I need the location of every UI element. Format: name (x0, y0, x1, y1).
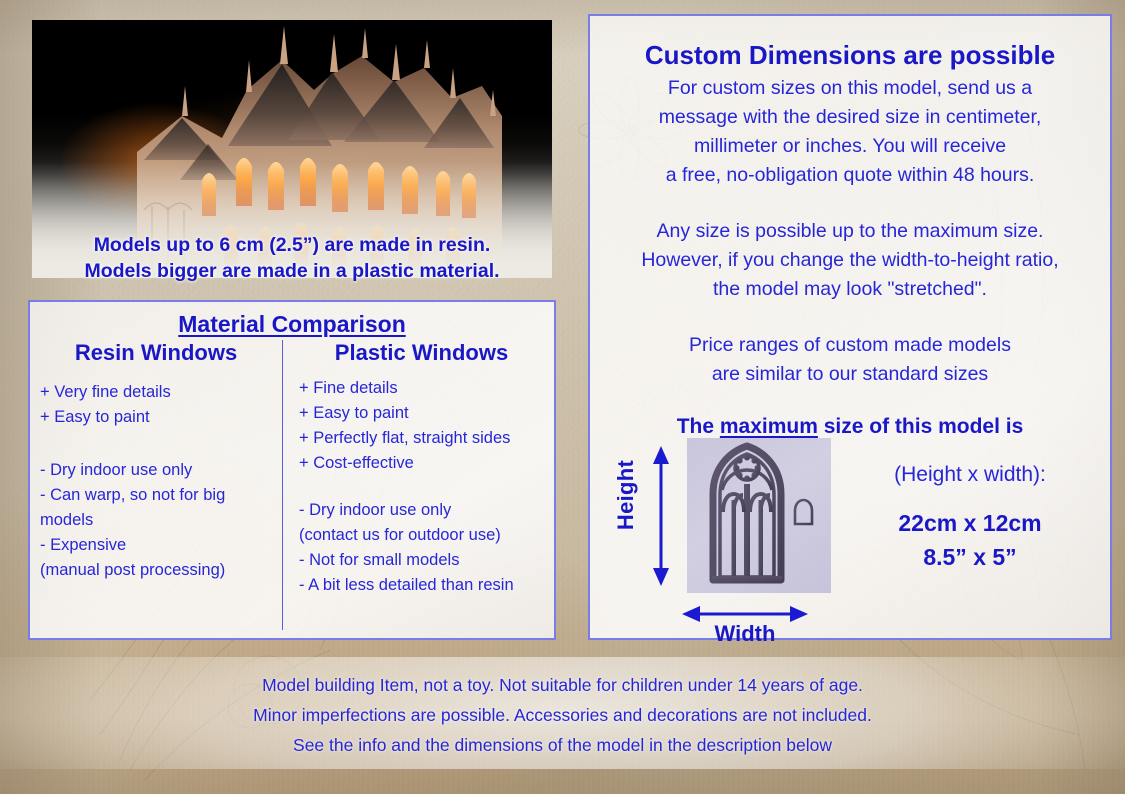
disclaimer-text: Model building Item, not a toy. Not suit… (0, 670, 1125, 760)
paragraph-1-line-1: For custom sizes on this model, send us … (600, 74, 1100, 103)
list-item: + Easy to paint (40, 405, 272, 430)
list-item: - Dry indoor use only (299, 498, 544, 523)
size-imperial-value: 8.5” x 5” (845, 540, 1095, 574)
plastic-list-spacer (299, 476, 544, 498)
list-item: + Perfectly flat, straight sides (299, 426, 544, 451)
paragraph-2-line-3: the model may look "stretched". (600, 275, 1100, 304)
height-dimension-arrow (652, 446, 670, 586)
custom-dimensions-paragraph-3: Price ranges of custom made models are s… (600, 331, 1100, 389)
list-item: + Cost-effective (299, 451, 544, 476)
width-label: Width (682, 621, 808, 647)
disclaimer-line-1: Model building Item, not a toy. Not suit… (0, 670, 1125, 700)
list-item: + Easy to paint (299, 401, 544, 426)
resin-list-spacer (40, 430, 272, 458)
disclaimer-line-3: See the info and the dimensions of the m… (0, 730, 1125, 760)
resin-note-line-2: Models bigger are made in a plastic mate… (32, 258, 552, 284)
paragraph-2-line-2: However, if you change the width-to-heig… (600, 246, 1100, 275)
window-model-photo (687, 438, 831, 593)
material-column-resin: Resin Windows + Very fine details + Easy… (30, 340, 282, 630)
material-comparison-columns: Resin Windows + Very fine details + Easy… (30, 340, 554, 630)
height-label: Height (613, 450, 639, 540)
material-comparison-panel: Material Comparison Resin Windows + Very… (28, 300, 556, 640)
resin-column-heading: Resin Windows (40, 340, 272, 366)
paragraph-3-line-2: are similar to our standard sizes (600, 360, 1100, 389)
list-item: - Not for small models (299, 548, 544, 573)
paragraph-1-line-2: message with the desired size in centime… (600, 103, 1100, 132)
disclaimer-line-2: Minor imperfections are possible. Access… (0, 700, 1125, 730)
paragraph-3-line-1: Price ranges of custom made models (600, 331, 1100, 360)
list-item: - A bit less detailed than resin (299, 573, 544, 598)
list-item: (contact us for outdoor use) (299, 523, 544, 548)
maximum-size-values: (Height x width): 22cm x 12cm 8.5” x 5” (845, 460, 1095, 574)
custom-dimensions-paragraph-1: For custom sizes on this model, send us … (600, 74, 1100, 190)
plastic-cons-list: - Dry indoor use only (contact us for ou… (299, 498, 544, 598)
material-comparison-title: Material Comparison (30, 311, 554, 338)
list-item: models (40, 508, 272, 533)
infographic-canvas: Models up to 6 cm (2.5”) are made in res… (0, 0, 1125, 794)
resin-size-note: Models up to 6 cm (2.5”) are made in res… (32, 232, 552, 284)
size-caption: (Height x width): (845, 460, 1095, 490)
paragraph-1-line-3: millimeter or inches. You will receive (600, 132, 1100, 161)
size-metric-value: 22cm x 12cm (845, 506, 1095, 540)
list-item: + Very fine details (40, 380, 272, 405)
resin-note-line-1: Models up to 6 cm (2.5”) are made in res… (32, 232, 552, 258)
custom-dimensions-panel: Custom Dimensions are possible For custo… (588, 14, 1112, 640)
custom-dimensions-paragraph-2: Any size is possible up to the maximum s… (600, 217, 1100, 304)
resin-cons-list: - Dry indoor use only - Can warp, so not… (40, 458, 272, 583)
list-item: + Fine details (299, 376, 544, 401)
list-item: - Can warp, so not for big (40, 483, 272, 508)
list-item: - Dry indoor use only (40, 458, 272, 483)
resin-pros-list: + Very fine details + Easy to paint (40, 380, 272, 430)
paragraph-2-line-1: Any size is possible up to the maximum s… (600, 217, 1100, 246)
plastic-column-heading: Plastic Windows (299, 340, 544, 366)
list-item: - Expensive (40, 533, 272, 558)
paragraph-1-line-4: a free, no-obligation quote within 48 ho… (600, 161, 1100, 190)
custom-dimensions-title: Custom Dimensions are possible (590, 40, 1110, 71)
model-dimension-diagram: Height Width (Height x width): 22cm x 12… (590, 420, 1110, 642)
material-column-plastic: Plastic Windows + Fine details + Easy to… (282, 340, 554, 630)
plastic-pros-list: + Fine details + Easy to paint + Perfect… (299, 376, 544, 476)
list-item: (manual post processing) (40, 558, 272, 583)
